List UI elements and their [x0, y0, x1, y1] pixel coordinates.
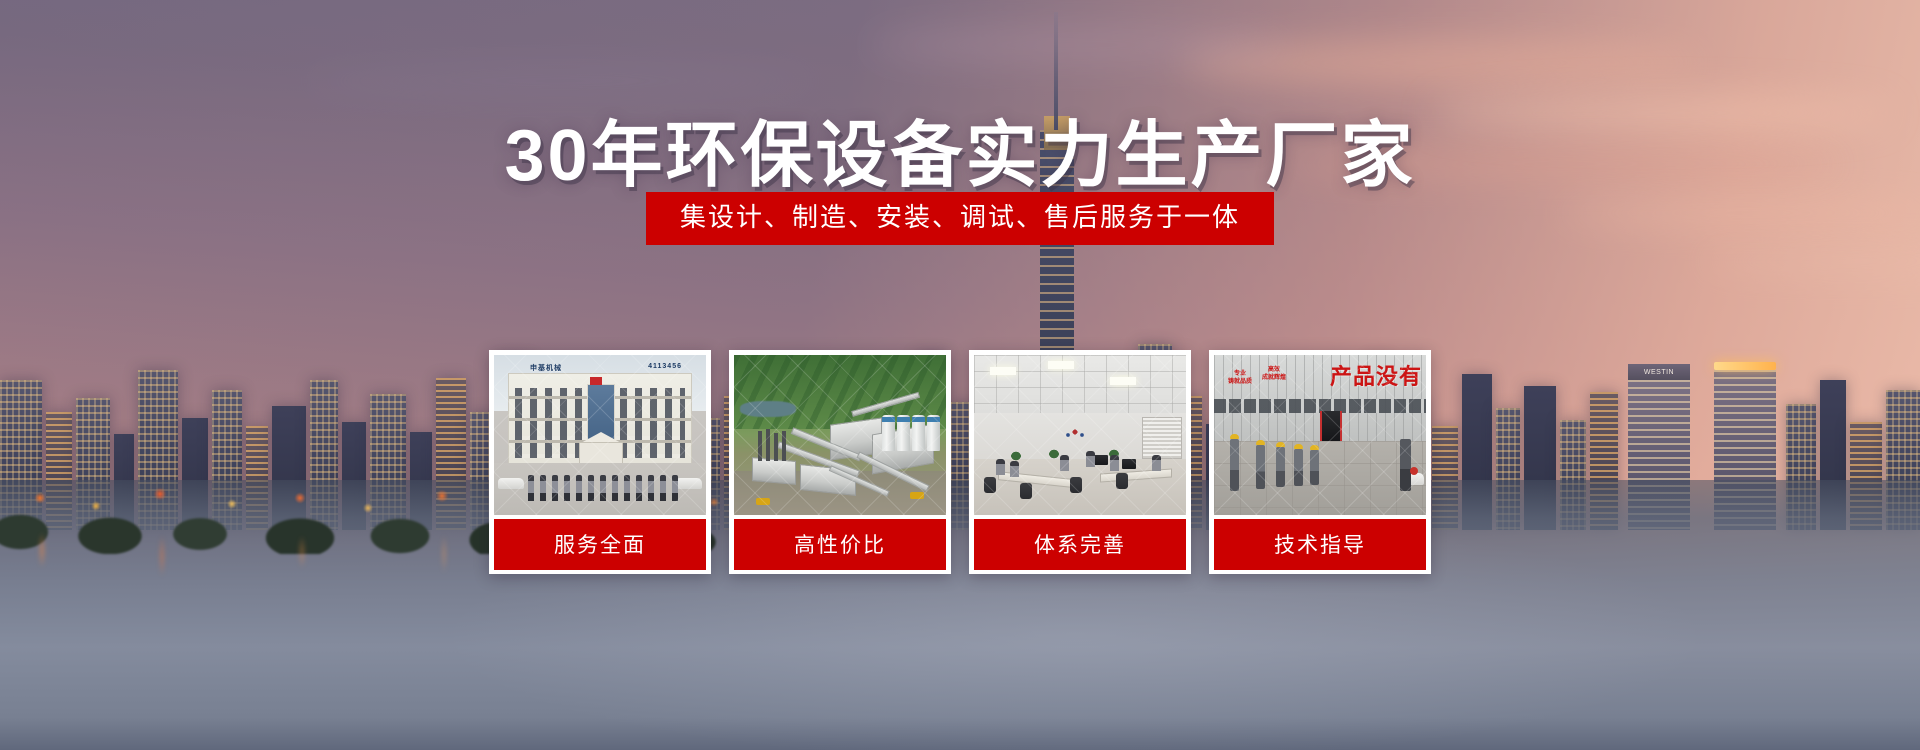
- building-sign-text: 申基机械: [530, 363, 562, 373]
- office-interior-photo: [974, 355, 1186, 515]
- flag-icon: [590, 377, 602, 385]
- feature-card-caption: 服务全面: [494, 519, 706, 570]
- factory-wall-sign: 产品没有: [1330, 359, 1422, 391]
- feature-card[interactable]: 体系完善: [969, 350, 1191, 574]
- feature-card-row: 申基机械 4113456: [489, 350, 1431, 574]
- factory-slogan-right-sub: 成就辉煌: [1262, 375, 1286, 381]
- feature-card[interactable]: 产品没有 专业 铸就品质 高效 成就辉煌: [1209, 350, 1431, 574]
- banner-subtitle: 集设计、制造、安装、调试、售后服务于一体: [646, 192, 1274, 245]
- hero-banner: WESTIN 30年环保设备实力生产厂家 集设计、制造、安装、调试、售后服务于一…: [0, 0, 1920, 750]
- banner-headline: 30年环保设备实力生产厂家: [0, 96, 1920, 201]
- factory-workers-photo: 产品没有 专业 铸就品质 高效 成就辉煌: [1214, 355, 1426, 515]
- wall-logo-icon: [1062, 419, 1088, 441]
- company-office-building-photo: 申基机械 4113456: [494, 355, 706, 515]
- building-phone-text: 4113456: [648, 363, 682, 370]
- feature-card[interactable]: 申基机械 4113456: [489, 350, 711, 574]
- aerial-plant-photo: [734, 355, 946, 515]
- feature-card-caption: 技术指导: [1214, 519, 1426, 570]
- banner-subtitle-row: 集设计、制造、安装、调试、售后服务于一体: [0, 192, 1920, 245]
- feature-card-caption: 体系完善: [974, 519, 1186, 570]
- banner-content: 30年环保设备实力生产厂家 集设计、制造、安装、调试、售后服务于一体: [0, 0, 1920, 750]
- feature-card[interactable]: 高性价比: [729, 350, 951, 574]
- factory-slogan-left-sub: 铸就品质: [1228, 379, 1252, 385]
- factory-slogan-right: 高效: [1268, 367, 1280, 373]
- factory-slogan-left: 专业: [1234, 371, 1246, 377]
- feature-card-caption: 高性价比: [734, 519, 946, 570]
